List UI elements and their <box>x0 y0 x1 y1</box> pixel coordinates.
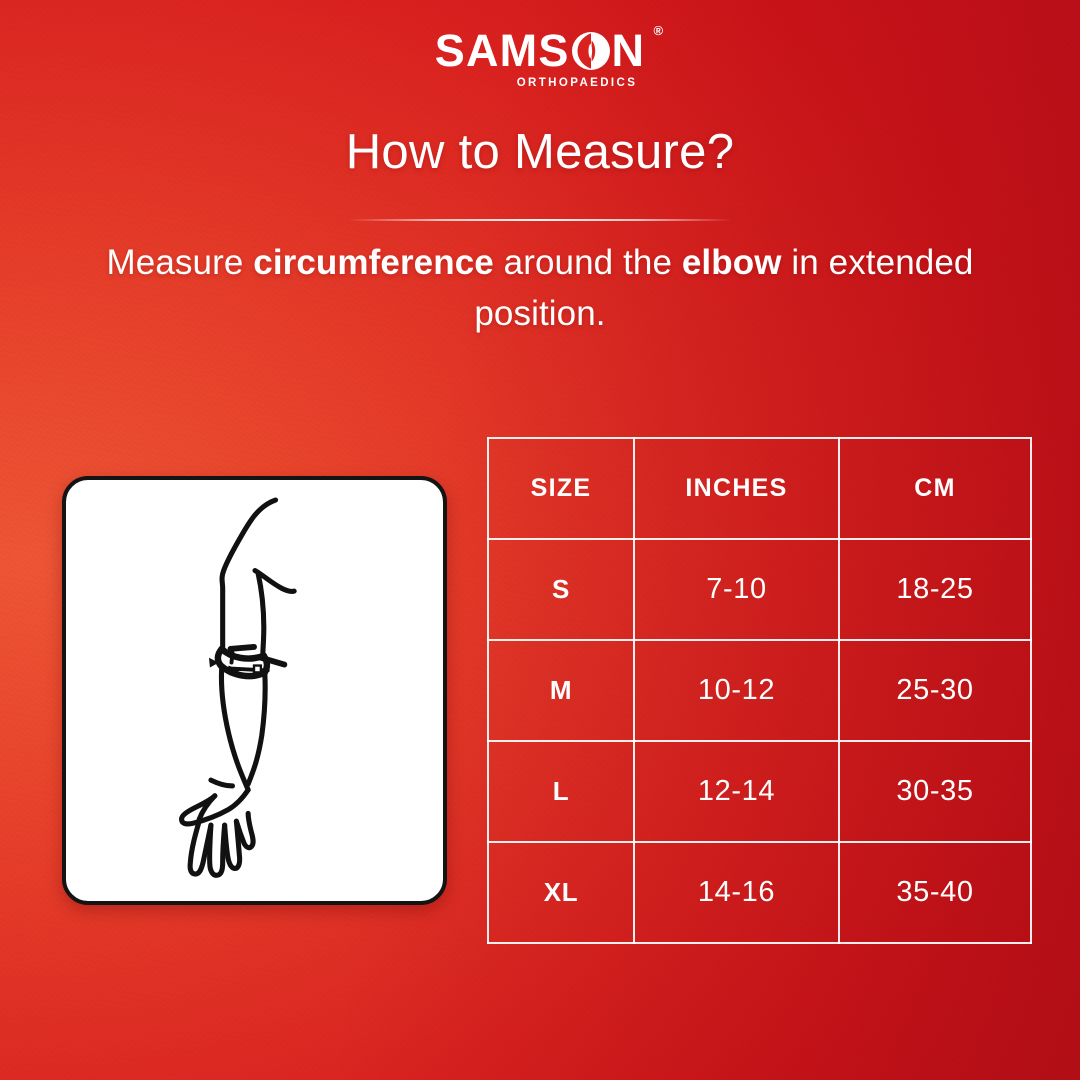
cell-size: XL <box>488 842 634 943</box>
cell-cm: 18-25 <box>839 539 1031 640</box>
instruction-text: Measure circumference around the elbow i… <box>90 238 990 340</box>
measurement-illustration-card <box>62 476 447 905</box>
cell-inches: 7-10 <box>634 539 839 640</box>
page-title: How to Measure? <box>0 124 1080 180</box>
table-header-row: SIZE INCHES CM <box>488 438 1031 539</box>
cell-cm: 35-40 <box>839 842 1031 943</box>
brand-wordmark: SAMS N ® <box>435 28 646 73</box>
cell-size: M <box>488 640 634 741</box>
instruction-part-1: Measure <box>107 243 254 282</box>
cell-inches: 14-16 <box>634 842 839 943</box>
brand-wordmark-after: N <box>612 28 646 73</box>
instruction-part-2: around the <box>494 243 682 282</box>
cell-size: L <box>488 741 634 842</box>
cell-inches: 12-14 <box>634 741 839 842</box>
column-header-inches: INCHES <box>634 438 839 539</box>
cell-cm: 30-35 <box>839 741 1031 842</box>
registered-trademark-icon: ® <box>653 24 664 37</box>
instruction-bold-elbow: elbow <box>682 243 782 282</box>
arm-with-measuring-tape-at-elbow-illustration <box>66 480 443 901</box>
size-guide-page: SAMS N ® ORTHOPAEDICS How to Measure? Me… <box>0 0 1080 1080</box>
size-chart-table: SIZE INCHES CM S 7-10 18-25 M 10-12 25-3… <box>487 437 1032 944</box>
column-header-size: SIZE <box>488 438 634 539</box>
brand-subtitle: ORTHOPAEDICS <box>517 77 638 89</box>
cell-inches: 10-12 <box>634 640 839 741</box>
brand-wordmark-before: SAMS <box>435 28 570 73</box>
cell-size: S <box>488 539 634 640</box>
instruction-bold-circumference: circumference <box>253 243 494 282</box>
table-row: M 10-12 25-30 <box>488 640 1031 741</box>
table-row: L 12-14 30-35 <box>488 741 1031 842</box>
table-row: S 7-10 18-25 <box>488 539 1031 640</box>
heading-divider <box>348 219 732 221</box>
samson-o-figure-icon <box>571 31 611 71</box>
table-row: XL 14-16 35-40 <box>488 842 1031 943</box>
cell-cm: 25-30 <box>839 640 1031 741</box>
column-header-cm: CM <box>839 438 1031 539</box>
brand-logo: SAMS N ® ORTHOPAEDICS <box>0 28 1080 89</box>
